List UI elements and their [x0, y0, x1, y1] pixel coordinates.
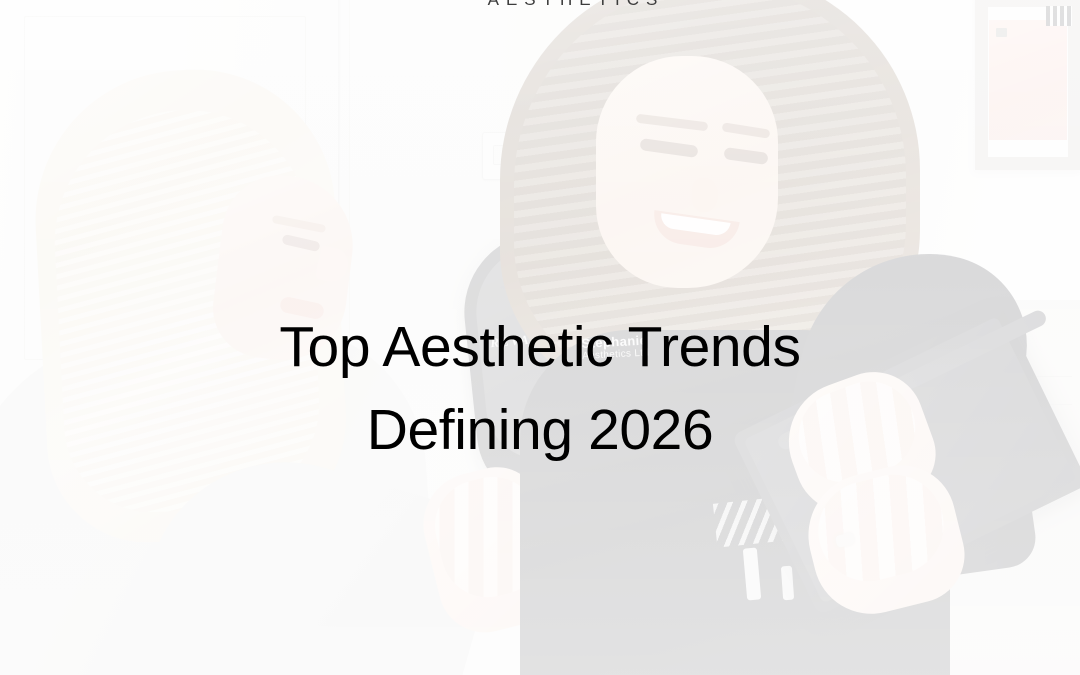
aesthetics-logo-mark: [416, 0, 474, 8]
practitioner-face: [596, 56, 778, 288]
logo-wordmark: AESTHETICS: [488, 0, 665, 8]
site-logo[interactable]: AESTHETICS: [0, 0, 1080, 8]
hero-banner: REVANESSE® Stephanie Aesthetics Ltd: [0, 0, 1080, 675]
wall-tag: [1046, 6, 1072, 26]
page-title: Top Aesthetic Trends Defining 2026: [0, 306, 1080, 472]
practitioner-nose: [692, 178, 718, 212]
uniform-zip-pull-secondary: [781, 566, 794, 601]
certificate-art: [989, 20, 1067, 140]
